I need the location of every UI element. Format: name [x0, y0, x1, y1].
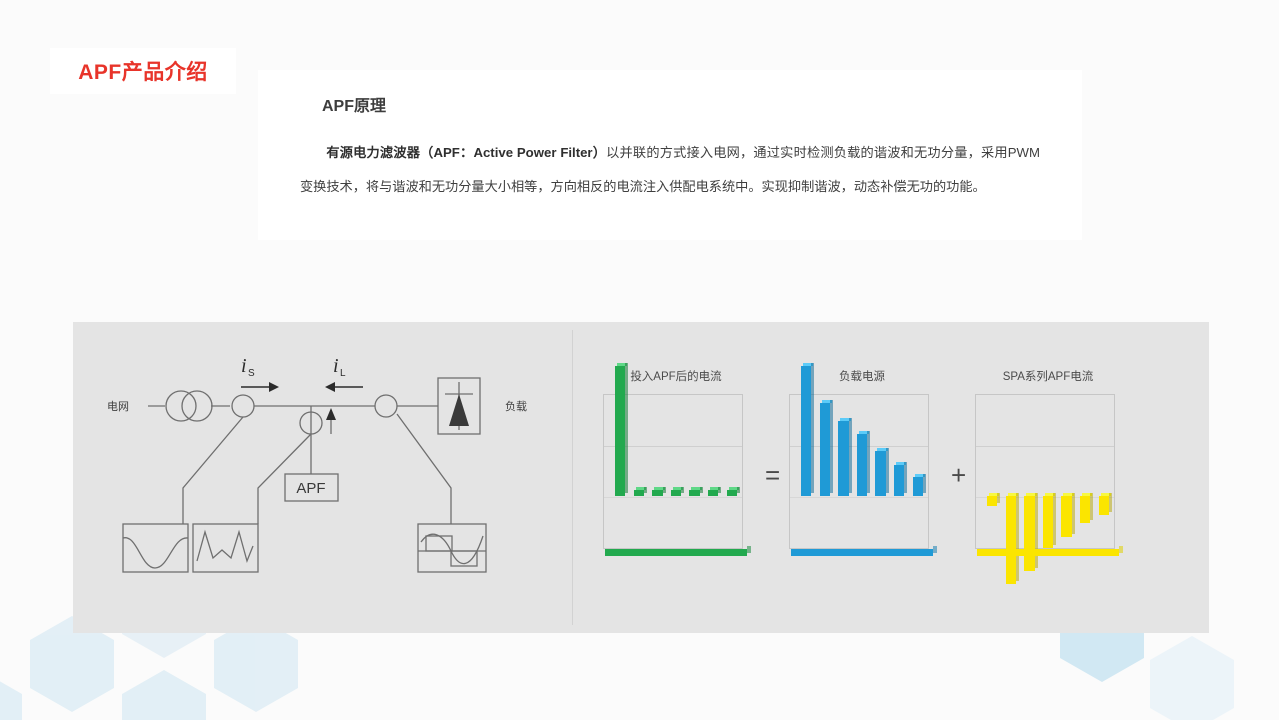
equals-operator: =	[765, 460, 780, 491]
slide-title-chip: APF产品介绍	[50, 48, 236, 94]
bar	[1061, 496, 1071, 537]
bar	[987, 496, 997, 506]
plot-area-load-source	[796, 395, 924, 548]
chart-block-apf-current: SPA系列APF电流	[975, 368, 1121, 549]
chart-base-shadow-load-source	[933, 546, 937, 553]
chart-block-after-apf: 投入APF后的电流	[603, 368, 749, 549]
bar	[838, 421, 848, 496]
is-subscript: S	[248, 368, 255, 379]
bar	[727, 490, 737, 496]
il-symbol: i	[333, 355, 339, 377]
bar	[689, 490, 699, 496]
plot-area-apf-current	[982, 395, 1110, 548]
il-subscript: L	[340, 368, 346, 379]
bar	[820, 403, 830, 496]
is-symbol: i	[241, 355, 247, 377]
bar	[671, 490, 681, 496]
bar	[857, 434, 867, 496]
chart-title-apf-current: SPA系列APF电流	[975, 368, 1121, 386]
principle-card: APF原理 有源电力滤波器（APF：Active Power Filter）以并…	[258, 70, 1082, 240]
card-body-bold: 有源电力滤波器（APF：Active Power Filter）	[326, 145, 606, 160]
bar	[708, 490, 718, 496]
load-label: 负载	[505, 399, 527, 413]
chart-frame-apf-current	[975, 394, 1115, 549]
chart-frame-after-apf	[603, 394, 743, 549]
page-title: APF产品介绍	[78, 56, 208, 86]
apf-box-label: APF	[296, 480, 325, 497]
grid-label: 电网	[107, 400, 129, 413]
card-body: 有源电力滤波器（APF：Active Power Filter）以并联的方式接入…	[300, 136, 1040, 204]
card-heading: APF原理	[322, 92, 1052, 116]
chart-base-after-apf	[605, 549, 747, 556]
bar	[894, 465, 904, 496]
plot-area-after-apf	[610, 395, 738, 548]
bar	[1024, 496, 1034, 571]
chart-base-shadow-apf-current	[1119, 546, 1123, 553]
bar	[913, 477, 923, 496]
charts-area: 投入APF后的电流 = 负载电源 + SPA系列APF电流	[603, 368, 1203, 598]
chart-block-load-source: 负载电源	[789, 368, 935, 549]
bar	[1080, 496, 1090, 523]
bar	[1043, 496, 1053, 548]
chart-base-shadow-after-apf	[747, 546, 751, 553]
bar	[615, 366, 625, 496]
bar	[1006, 496, 1016, 584]
plus-operator: +	[951, 460, 966, 491]
chart-base-load-source	[791, 549, 933, 556]
chart-base-apf-current	[977, 549, 1119, 556]
diagram-panel: 电网 负载 APF i S i L 投入APF后的电流 = 负载电源	[73, 322, 1209, 633]
bar	[875, 451, 885, 496]
circuit-diagram: 电网 负载 APF i S i L	[93, 346, 563, 596]
bar	[1099, 496, 1109, 515]
bar	[634, 490, 644, 496]
bar	[652, 490, 662, 496]
bar	[801, 366, 811, 496]
panel-divider	[572, 330, 573, 625]
chart-frame-load-source	[789, 394, 929, 549]
